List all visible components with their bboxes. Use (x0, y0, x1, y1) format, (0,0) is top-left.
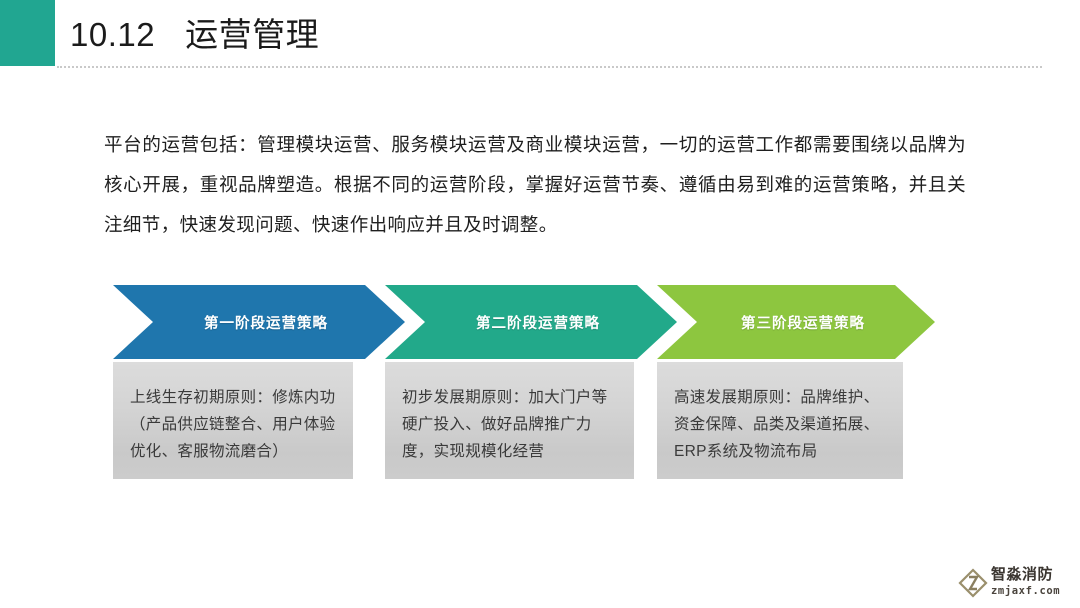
header-accent-block (0, 0, 55, 66)
diamond-z-logo-icon (958, 568, 988, 598)
process-banner-row: 第一阶段运营策略 第二阶段运营策略 第三阶段运营策略 (113, 285, 935, 359)
page-title-number: 10.12 (70, 16, 155, 53)
page-title-text: 运营管理 (185, 16, 319, 53)
process-diagram: 第一阶段运营策略 第二阶段运营策略 第三阶段运营策略 上线生存初期原则：修炼内功… (113, 285, 935, 485)
process-banner-stage-3[interactable]: 第三阶段运营策略 (657, 285, 935, 359)
header-divider (57, 66, 1042, 68)
process-description-stage-1: 上线生存初期原则：修炼内功（产品供应链整合、用户体验优化、客服物流磨合） (113, 362, 353, 479)
process-description-stage-2: 初步发展期原则：加大门户等硬广投入、做好品牌推广力度，实现规模化经营 (385, 362, 634, 479)
watermark-brand: 智淼消防 (991, 566, 1073, 584)
slide-root: 10.12运营管理 平台的运营包括：管理模块运营、服务模块运营及商业模块运营，一… (0, 0, 1080, 608)
watermark: 智淼消防 zmjaxf.com (958, 566, 1074, 602)
process-description-stage-3: 高速发展期原则：品牌维护、资金保障、品类及渠道拓展、ERP系统及物流布局 (657, 362, 903, 479)
process-banner-label-stage-1: 第一阶段运营策略 (190, 312, 328, 333)
process-banner-stage-2[interactable]: 第二阶段运营策略 (385, 285, 677, 359)
process-banner-stage-1[interactable]: 第一阶段运营策略 (113, 285, 405, 359)
process-banner-label-stage-2: 第二阶段运营策略 (462, 312, 600, 333)
intro-paragraph: 平台的运营包括：管理模块运营、服务模块运营及商业模块运营，一切的运营工作都需要围… (104, 125, 966, 245)
watermark-text: 智淼消防 zmjaxf.com (991, 566, 1073, 598)
watermark-url: zmjaxf.com (991, 584, 1073, 598)
process-banner-label-stage-3: 第三阶段运营策略 (727, 312, 865, 333)
process-description-row: 上线生存初期原则：修炼内功（产品供应链整合、用户体验优化、客服物流磨合） 初步发… (113, 362, 935, 479)
page-title: 10.12运营管理 (70, 13, 319, 57)
